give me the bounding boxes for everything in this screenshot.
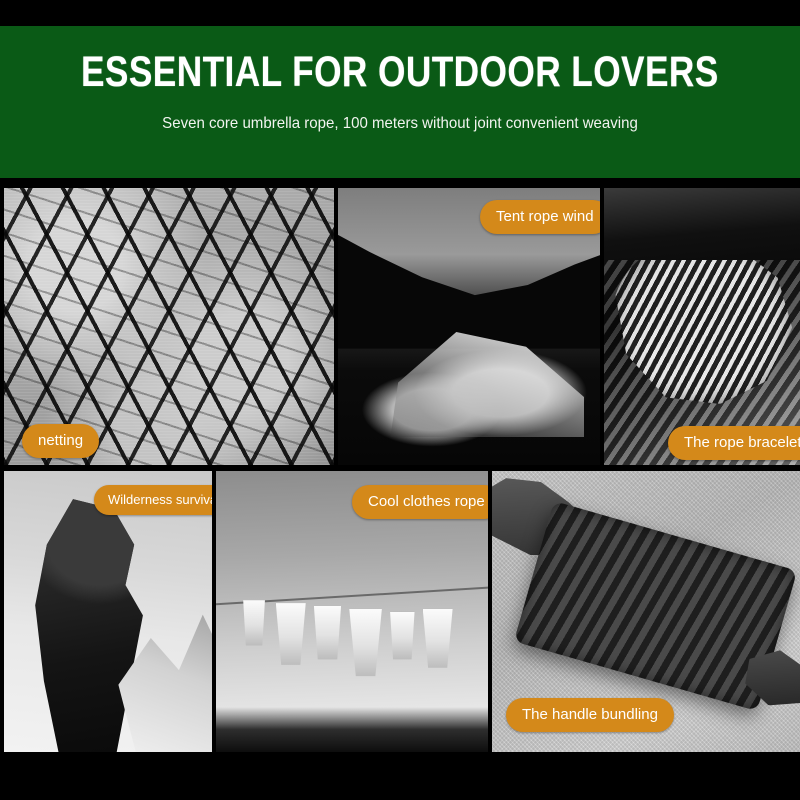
bracelet-photo	[604, 188, 800, 465]
gallery-tile-cool-clothes-rope[interactable]: Cool clothes rope	[216, 471, 488, 752]
page-subtitle: Seven core umbrella rope, 100 meters wit…	[162, 114, 638, 134]
gallery-tile-rope-bracelet[interactable]: The rope bracelet	[604, 188, 800, 465]
badge-tent-rope-wind: Tent rope wind	[480, 200, 600, 234]
image-gallery: netting Tent rope wind The rope bracelet…	[0, 184, 800, 756]
gallery-tile-tent-rope-wind[interactable]: Tent rope wind	[338, 188, 600, 465]
gallery-tile-wilderness-survival[interactable]: Wilderness survival	[4, 471, 212, 752]
badge-rope-bracelet: The rope bracelet	[668, 426, 800, 460]
product-banner: ESSENTIAL FOR OUTDOOR LOVERS Seven core …	[0, 0, 800, 800]
badge-netting: netting	[22, 424, 99, 458]
gallery-tile-handle-bundling[interactable]: The handle bundling	[492, 471, 800, 752]
badge-wilderness-survival: Wilderness survival	[94, 485, 212, 515]
top-black-bar	[0, 0, 800, 26]
header-band: ESSENTIAL FOR OUTDOOR LOVERS Seven core …	[0, 26, 800, 178]
gallery-tile-netting[interactable]: netting	[4, 188, 334, 465]
page-title: ESSENTIAL FOR OUTDOOR LOVERS	[81, 48, 719, 96]
badge-handle-bundling: The handle bundling	[506, 698, 674, 732]
badge-cool-clothes-rope: Cool clothes rope	[352, 485, 488, 519]
